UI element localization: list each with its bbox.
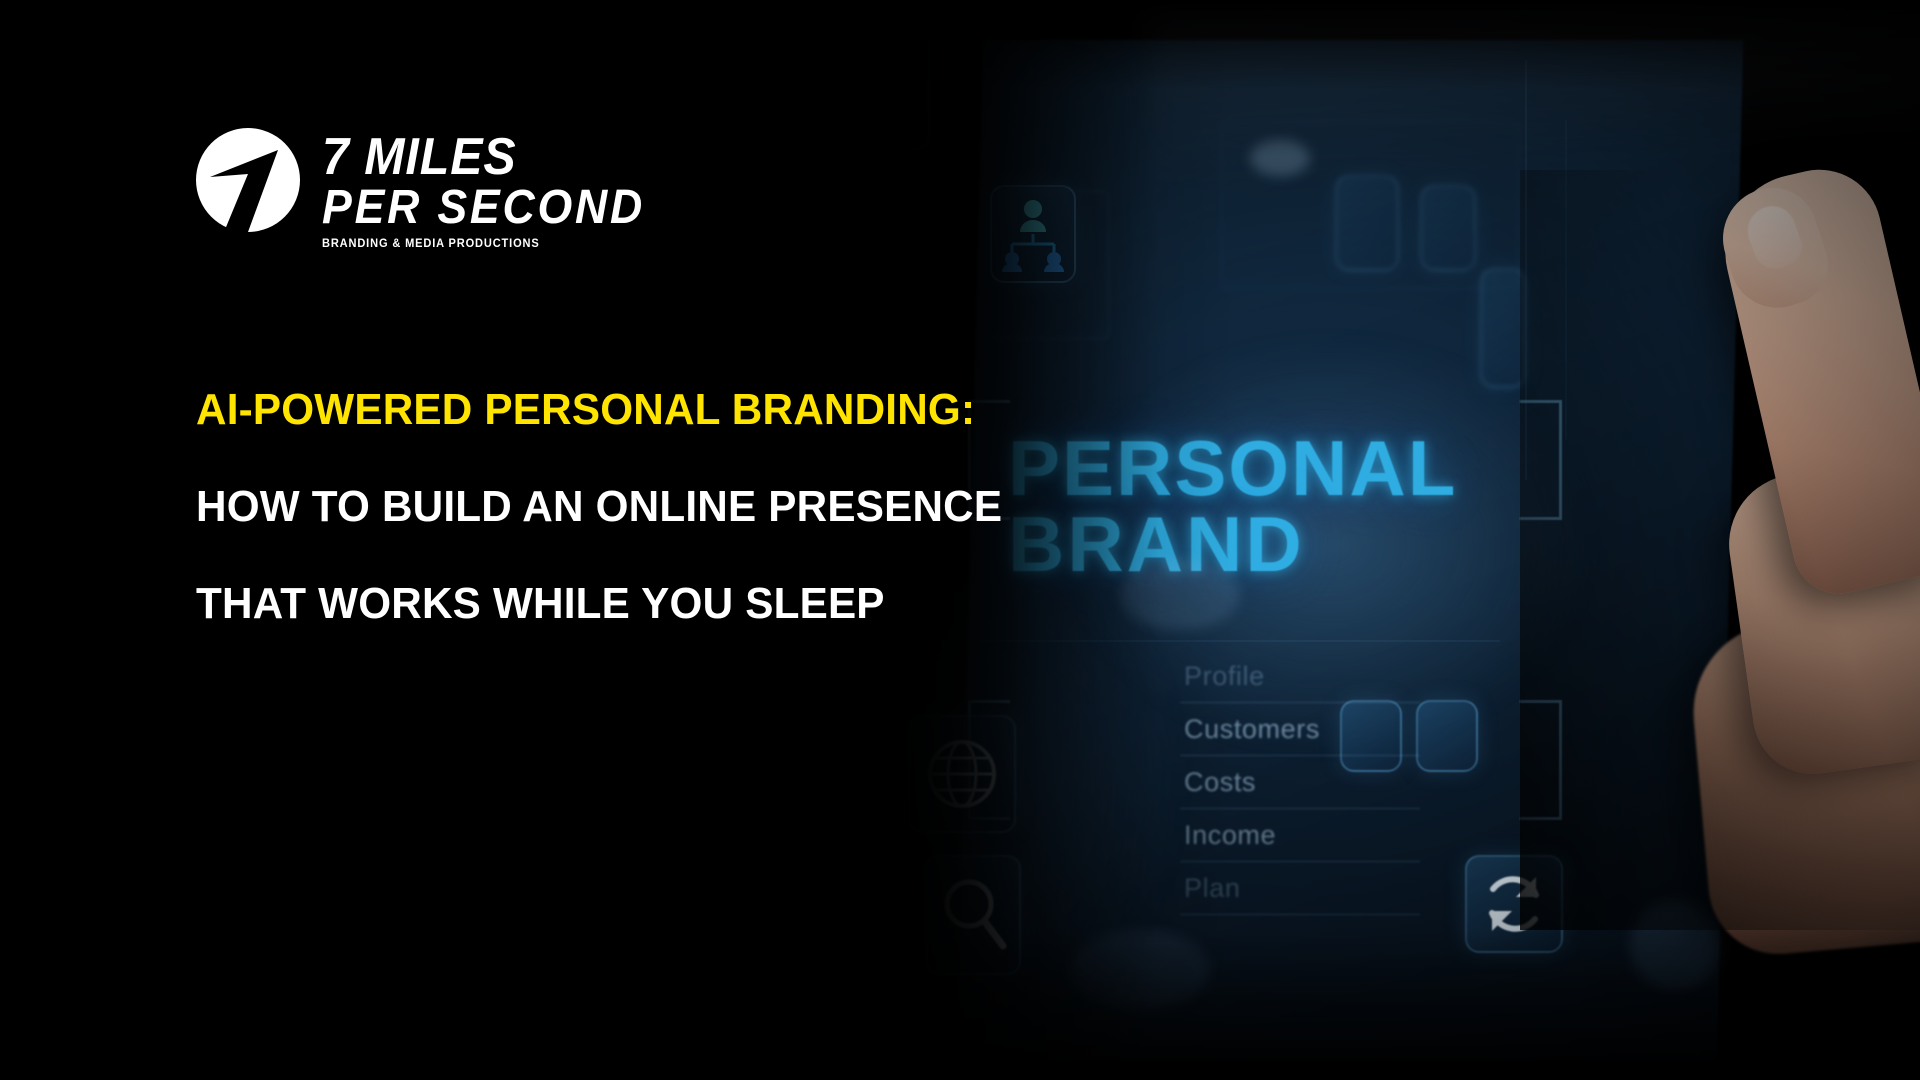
brand-tagline: BRANDING & MEDIA PRODUCTIONS [322, 238, 655, 250]
content-column: 7 MILES PER SECOND BRANDING & MEDIA PROD… [0, 0, 900, 1080]
headline-line-1: AI-POWERED PERSONAL BRANDING: [196, 388, 1156, 432]
page-title: AI-POWERED PERSONAL BRANDING: HOW TO BUI… [196, 388, 1196, 626]
seven-circle-logo-icon [196, 128, 300, 232]
brand-line-2: PER SECOND [322, 184, 645, 233]
headline-line-3: THAT WORKS WHILE YOU SLEEP [196, 582, 1156, 626]
brand-logo[interactable]: 7 MILES PER SECOND BRANDING & MEDIA PROD… [196, 128, 669, 250]
headline-line-2: HOW TO BUILD AN ONLINE PRESENCE [196, 485, 1156, 529]
brand-line-1: 7 MILES [322, 134, 645, 182]
banner-canvas: PERSONAL BRAND Profile Customers Costs I… [0, 0, 1920, 1080]
brand-logo-wordmark: 7 MILES PER SECOND BRANDING & MEDIA PROD… [322, 128, 669, 250]
